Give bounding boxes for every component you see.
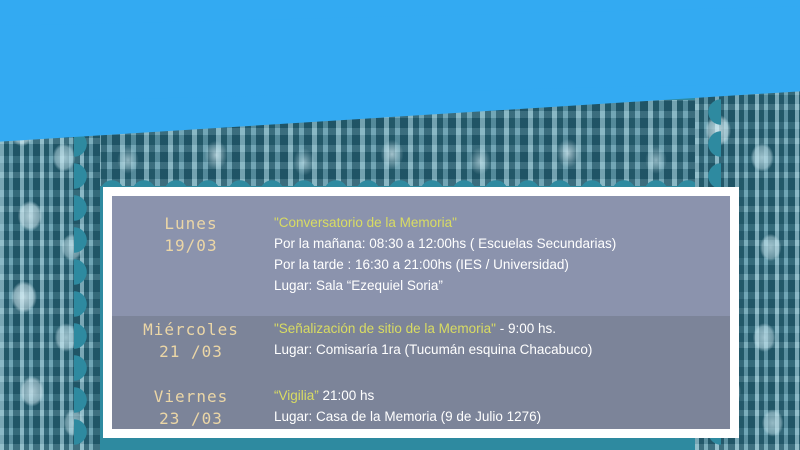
schedule-detail-line: Por la mañana: 08:30 a 12:00hs ( Escuela… bbox=[274, 233, 730, 254]
schedule-event-title-text: “Vigilia” bbox=[274, 388, 319, 403]
schedule-row: Viernes 23 /03 “Vigilia” 21:00 hs Lugar:… bbox=[112, 363, 730, 429]
schedule-date: Miércoles 21 /03 bbox=[112, 318, 270, 363]
schedule-event-title-suffix: - 9:00 hs. bbox=[496, 321, 556, 336]
schedule-row: Miércoles 21 /03 "Señalización de sitio … bbox=[112, 296, 730, 363]
schedule-day-number: 21 /03 bbox=[112, 341, 270, 363]
schedule-event-title: "Conversatorio de la Memoria" bbox=[274, 212, 730, 233]
schedule-event-title: “Vigilia” 21:00 hs bbox=[274, 385, 730, 406]
schedule-row: Lunes 19/03 "Conversatorio de la Memoria… bbox=[112, 208, 730, 296]
schedule-list: Lunes 19/03 "Conversatorio de la Memoria… bbox=[112, 196, 730, 429]
schedule-event-title-text: "Señalización de sitio de la Memoria" bbox=[274, 321, 496, 336]
schedule-panel-frame: Lunes 19/03 "Conversatorio de la Memoria… bbox=[103, 187, 739, 438]
schedule-detail-line: Por la tarde : 16:30 a 21:00hs (IES / Un… bbox=[274, 254, 730, 275]
schedule-detail-line: Lugar: Sala “Ezequiel Soria” bbox=[274, 275, 730, 296]
schedule-event-title-suffix: 21:00 hs bbox=[319, 388, 375, 403]
schedule-details: "Señalización de sitio de la Memoria" - … bbox=[270, 318, 730, 360]
schedule-detail-line: Lugar: Comisaría 1ra (Tucumán esquina Ch… bbox=[274, 339, 730, 360]
schedule-detail-line: Lugar: Casa de la Memoria (9 de Julio 12… bbox=[274, 406, 730, 427]
poster-canvas: TE INVITAMOS A PARTICIPAR Lunes 19/03 "C… bbox=[0, 0, 800, 450]
schedule-day-of-week: Miércoles bbox=[112, 319, 270, 341]
schedule-details: "Conversatorio de la Memoria" Por la mañ… bbox=[270, 212, 730, 296]
schedule-day-number: 23 /03 bbox=[112, 408, 270, 429]
headline-banner-wedge bbox=[0, 6, 800, 104]
schedule-event-title: "Señalización de sitio de la Memoria" - … bbox=[274, 318, 730, 339]
schedule-event-title-text: "Conversatorio de la Memoria" bbox=[274, 215, 457, 230]
schedule-date: Lunes 19/03 bbox=[112, 212, 270, 257]
schedule-day-number: 19/03 bbox=[112, 235, 270, 257]
schedule-panel: Lunes 19/03 "Conversatorio de la Memoria… bbox=[112, 196, 730, 429]
schedule-date: Viernes 23 /03 bbox=[112, 385, 270, 429]
schedule-details: “Vigilia” 21:00 hs Lugar: Casa de la Mem… bbox=[270, 385, 730, 427]
schedule-day-of-week: Lunes bbox=[112, 213, 270, 235]
schedule-day-of-week: Viernes bbox=[112, 386, 270, 408]
